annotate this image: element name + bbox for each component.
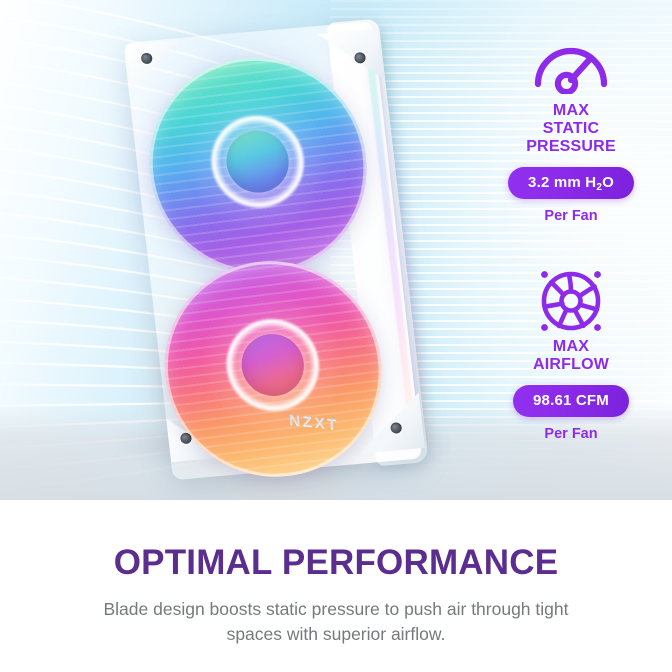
stat-value-tail: O <box>602 174 614 191</box>
stat-title: MAX STATIC PRESSURE <box>478 102 664 156</box>
subcopy: Blade design boosts static pressure to p… <box>76 597 596 647</box>
pressure-gauge-icon <box>478 34 664 96</box>
caption-panel: OPTIMAL PERFORMANCE Blade design boosts … <box>0 500 672 672</box>
spec-callouts: MAX STATIC PRESSURE 3.2 mm H2O Per Fan <box>478 34 664 442</box>
fan-product: NZXT <box>120 12 440 492</box>
stat-title: MAX AIRFLOW <box>478 338 664 374</box>
stat-value-badge: 3.2 mm H2O <box>508 167 634 199</box>
stat-value-badge: 98.61 CFM <box>513 385 629 417</box>
fan-blade-icon <box>478 270 664 332</box>
stat-max-airflow: MAX AIRFLOW 98.61 CFM Per Fan <box>478 270 664 442</box>
stat-max-static-pressure: MAX STATIC PRESSURE 3.2 mm H2O Per Fan <box>478 34 664 224</box>
hero-image: NZXT MAX STATIC PRESSURE 3.2 mm H2 <box>0 0 672 500</box>
stat-value-text: 3.2 mm H <box>528 174 596 191</box>
product-feature-card: NZXT MAX STATIC PRESSURE 3.2 mm H2 <box>0 0 672 672</box>
stat-note: Per Fan <box>478 208 664 224</box>
headline: OPTIMAL PERFORMANCE <box>0 545 672 580</box>
stat-value-subscript: 2 <box>596 182 602 193</box>
stat-note: Per Fan <box>478 426 664 442</box>
subcopy-line-1: Blade design boosts static pressure to p… <box>103 599 530 619</box>
